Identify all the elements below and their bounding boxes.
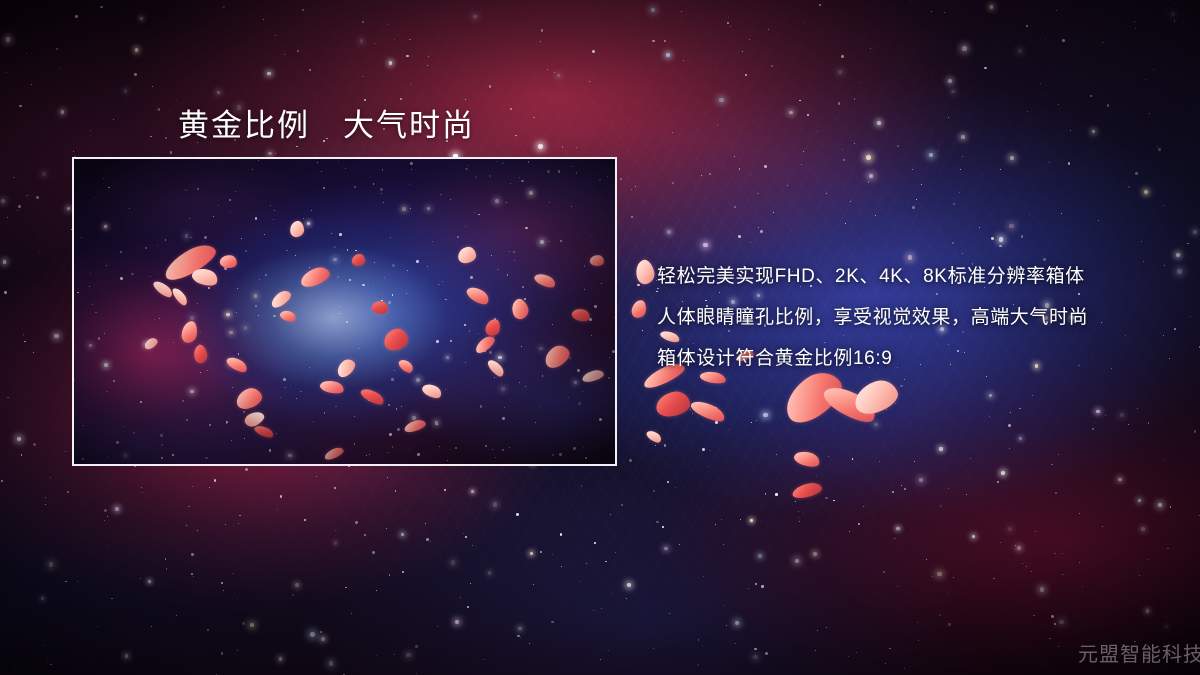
galaxy-petals-image	[74, 159, 615, 464]
petal	[633, 258, 656, 286]
body-line-2: 人体眼睛瞳孔比例，享受视觉效果，高端大气时尚	[657, 297, 1157, 338]
body-line-3: 箱体设计符合黄金比例16:9	[657, 338, 1157, 379]
body-line-1: 轻松完美实现FHD、2K、4K、8K标准分辨率箱体	[657, 256, 1157, 297]
watermark-text: 元盟智能科技	[1078, 638, 1200, 667]
framed-image-panel	[72, 157, 617, 466]
petal	[792, 448, 821, 469]
petal	[352, 254, 365, 266]
body-text-block: 轻松完美实现FHD、2K、4K、8K标准分辨率箱体 人体眼睛瞳孔比例，享受视觉效…	[657, 256, 1157, 379]
petal	[645, 428, 663, 445]
petal	[689, 397, 727, 425]
petal	[791, 481, 823, 500]
petal	[654, 390, 691, 418]
presentation-slide: 黄金比例 大气时尚 轻松完美实现FHD、2K、4K、8K标准分辨率箱体 人体眼睛…	[0, 0, 1200, 675]
slide-title: 黄金比例 大气时尚	[178, 100, 475, 145]
petal	[631, 299, 648, 319]
